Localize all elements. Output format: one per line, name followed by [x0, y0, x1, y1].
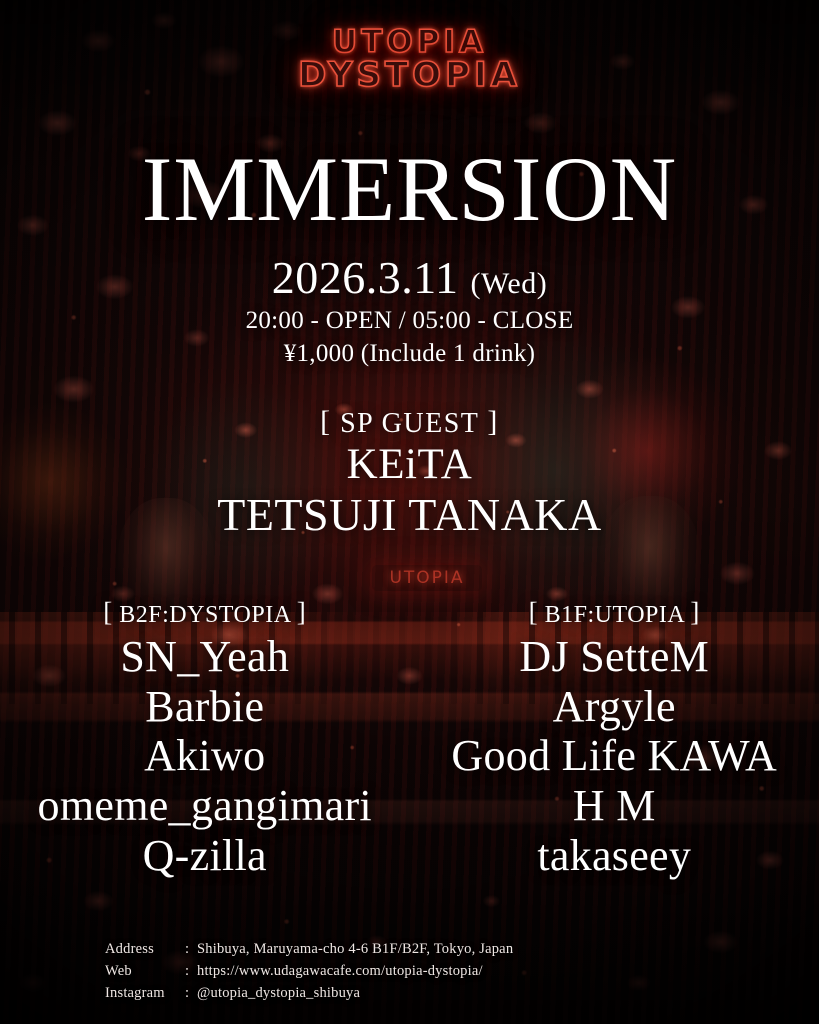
- list-item: Argyle: [410, 682, 819, 732]
- contact-value-web[interactable]: https://www.udagawacafe.com/utopia-dysto…: [197, 960, 483, 982]
- venue-logo-line-dystopia: DYSTOPIA: [0, 58, 819, 93]
- list-item: H M: [410, 781, 819, 831]
- flyer-content: UTOPIA DYSTOPIA IMMERSION 2026.3.11 (Wed…: [0, 0, 819, 1024]
- event-date-line: 2026.3.11 (Wed): [0, 252, 819, 304]
- event-title: IMMERSION: [0, 143, 819, 235]
- bracket-open-icon: [: [103, 597, 113, 627]
- dj-list-b1f: DJ SetteM Argyle Good Life KAWA H M taka…: [410, 632, 819, 881]
- contact-separator: :: [185, 938, 197, 960]
- list-item: DJ SetteM: [410, 632, 819, 682]
- list-item: Akiwo: [0, 731, 410, 781]
- list-item: Good Life KAWA: [410, 731, 819, 781]
- event-date: 2026.3.11: [272, 252, 459, 303]
- contact-value-address: Shibuya, Maruyama-cho 4-6 B1F/B2F, Tokyo…: [197, 938, 513, 960]
- list-item: takaseey: [410, 831, 819, 881]
- contact-separator: :: [185, 982, 197, 1004]
- list-item: Barbie: [0, 682, 410, 732]
- floor-column-b1f: [ B1F:UTOPIA ] DJ SetteM Argyle Good Lif…: [410, 596, 819, 881]
- event-flyer: UTOPIA UTOPIA DYSTOPIA IMMERSION 2026.3.…: [0, 0, 819, 1024]
- floor-heading-b1f: [ B1F:UTOPIA ]: [410, 596, 819, 630]
- special-guest-heading-label: SP GUEST: [340, 408, 479, 439]
- event-price: ¥1,000 (Include 1 drink): [0, 337, 819, 371]
- contact-separator: :: [185, 960, 197, 982]
- list-item: omeme_gangimari: [0, 781, 410, 831]
- event-hours: 20:00 - OPEN / 05:00 - CLOSE: [0, 304, 819, 338]
- special-guest-name-2: TETSUJI TANAKA: [0, 489, 819, 541]
- special-guest-heading: [ SP GUEST ]: [0, 403, 819, 441]
- dj-list-b2f: SN_Yeah Barbie Akiwo omeme_gangimari Q-z…: [0, 632, 410, 881]
- venue-logo: UTOPIA DYSTOPIA: [0, 26, 819, 94]
- floor-column-b2f: [ B2F:DYSTOPIA ] SN_Yeah Barbie Akiwo om…: [0, 596, 410, 881]
- contact-row-web: Web : https://www.udagawacafe.com/utopia…: [105, 960, 513, 982]
- bracket-close-icon: ]: [487, 405, 499, 438]
- floor-lineups: [ B2F:DYSTOPIA ] SN_Yeah Barbie Akiwo om…: [0, 596, 819, 881]
- list-item: SN_Yeah: [0, 632, 410, 682]
- contact-row-address: Address : Shibuya, Maruyama-cho 4-6 B1F/…: [105, 938, 513, 960]
- event-datetime-block: 2026.3.11 (Wed) 20:00 - OPEN / 05:00 - C…: [0, 252, 819, 371]
- contact-footer: Address : Shibuya, Maruyama-cho 4-6 B1F/…: [105, 938, 513, 1004]
- contact-label-instagram: Instagram: [105, 982, 185, 1004]
- venue-logo-line-utopia: UTOPIA: [0, 26, 819, 58]
- contact-label-web: Web: [105, 960, 185, 982]
- bracket-close-icon: ]: [690, 597, 700, 627]
- floor-heading-b1f-label: B1F:UTOPIA: [545, 602, 684, 628]
- event-day-of-week: (Wed): [471, 267, 548, 300]
- contact-label-address: Address: [105, 938, 185, 960]
- bracket-open-icon: [: [529, 597, 539, 627]
- special-guest-name-1: KEiTA: [0, 441, 819, 489]
- special-guest-block: [ SP GUEST ] KEiTA TETSUJI TANAKA: [0, 403, 819, 541]
- bracket-open-icon: [: [320, 405, 332, 438]
- contact-value-instagram[interactable]: @utopia_dystopia_shibuya: [197, 982, 360, 1004]
- list-item: Q-zilla: [0, 831, 410, 881]
- floor-heading-b2f: [ B2F:DYSTOPIA ]: [0, 596, 410, 630]
- floor-heading-b2f-label: B2F:DYSTOPIA: [119, 602, 290, 628]
- bracket-close-icon: ]: [297, 597, 307, 627]
- contact-row-instagram: Instagram : @utopia_dystopia_shibuya: [105, 982, 513, 1004]
